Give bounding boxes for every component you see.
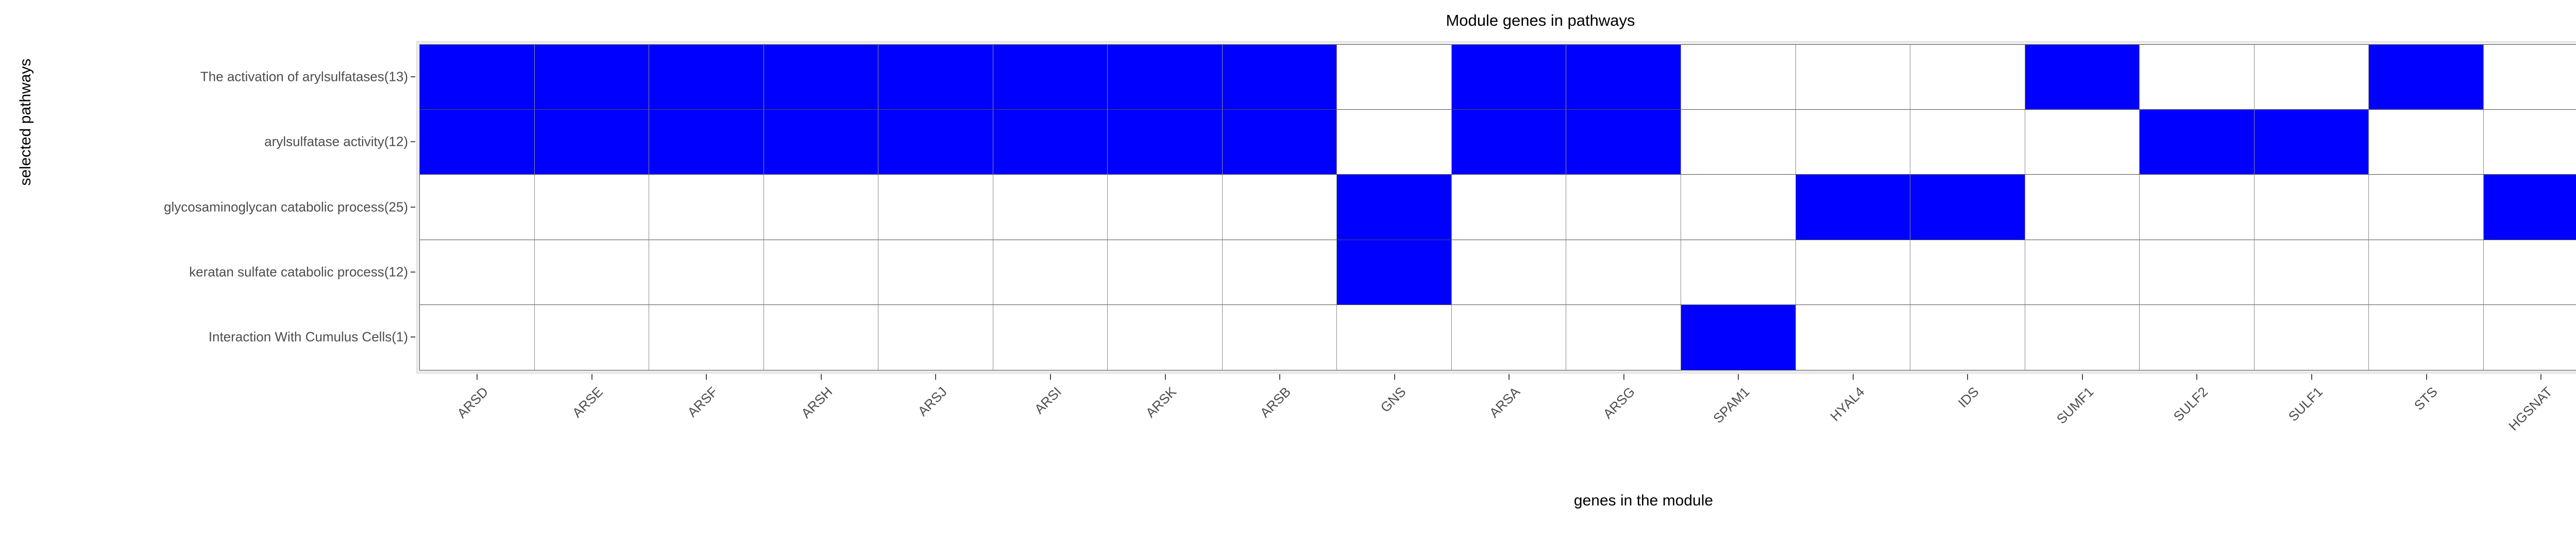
- x-tick-label: HYAL4: [1827, 384, 1868, 425]
- x-tick-label: SUMF1: [2054, 384, 2097, 427]
- y-tick-mark: [411, 207, 415, 208]
- heatmap-cell: [2255, 110, 2369, 175]
- x-tick-label: ARSH: [798, 384, 836, 421]
- x-tick-mark: [1738, 374, 1739, 380]
- x-tick-label: IDS: [1955, 384, 1982, 411]
- heatmap-cell: [1796, 240, 1911, 305]
- heatmap-cell: [649, 45, 764, 110]
- heatmap-cell: [1910, 45, 2025, 110]
- heatmap-cell: [1796, 175, 1911, 240]
- x-tick-mark: [935, 374, 936, 380]
- heatmap-cell: [1108, 305, 1223, 370]
- x-tick-mark: [2082, 374, 2083, 380]
- x-axis-title: genes in the module: [361, 492, 2576, 510]
- y-axis-title: selected pathways: [17, 19, 35, 225]
- heatmap-cell: [420, 305, 535, 370]
- heatmap-cell: [2484, 110, 2576, 175]
- heatmap-cell: [764, 45, 879, 110]
- x-tick-label: SULF1: [2285, 384, 2326, 425]
- heatmap-cell: [1681, 305, 1796, 370]
- x-tick-label: GNS: [1377, 384, 1409, 416]
- heatmap-cell: [1223, 305, 1337, 370]
- x-tick-mark: [1853, 374, 1854, 380]
- x-tick-mark: [2196, 374, 2197, 380]
- heatmap-cell: [1108, 45, 1223, 110]
- x-tick-mark: [2540, 374, 2541, 380]
- heatmap-cell: [2025, 305, 2140, 370]
- heatmap-cell: [2255, 45, 2369, 110]
- x-tick-mark: [1967, 374, 1968, 380]
- heatmap-cell: [878, 305, 993, 370]
- heatmap-cell: [1566, 45, 1681, 110]
- heatmap-cell: [420, 110, 535, 175]
- heatmap-cell: [2255, 175, 2369, 240]
- heatmap-cell: [1452, 45, 1567, 110]
- x-tick-label: ARSG: [1600, 384, 1638, 422]
- heatmap-cell: [993, 175, 1108, 240]
- heatmap-cell: [2369, 175, 2484, 240]
- heatmap-cell: [993, 45, 1108, 110]
- heatmap-cell: [1910, 175, 2025, 240]
- y-tick-label: The activation of arylsulfatases(13): [200, 69, 408, 85]
- x-tick-mark: [1050, 374, 1051, 380]
- heatmap-cell: [2025, 175, 2140, 240]
- y-tick-mark: [411, 141, 415, 142]
- x-tick-label: SULF2: [2171, 384, 2211, 425]
- x-tick-label: STS: [2411, 384, 2441, 414]
- heatmap-cell: [1681, 175, 1796, 240]
- heatmap-cell: [2025, 110, 2140, 175]
- y-tick-mark: [411, 76, 415, 77]
- heatmap-cell: [2140, 240, 2255, 305]
- heatmap-cell: [2140, 110, 2255, 175]
- heatmap-grid: [419, 44, 2576, 370]
- y-tick-label: Interaction With Cumulus Cells(1): [209, 329, 408, 345]
- x-tick-mark: [1509, 374, 1510, 380]
- heatmap-cell: [1108, 110, 1223, 175]
- heatmap-cell: [1910, 110, 2025, 175]
- x-tick-label: ARSJ: [915, 384, 951, 419]
- heatmap-cell: [2140, 305, 2255, 370]
- x-tick-mark: [591, 374, 592, 380]
- x-tick-mark: [706, 374, 707, 380]
- heatmap-cell: [420, 175, 535, 240]
- heatmap-cell: [649, 175, 764, 240]
- heatmap-cell: [535, 240, 650, 305]
- heatmap-cell: [878, 45, 993, 110]
- heatmap-cell: [2369, 305, 2484, 370]
- heatmap-cell: [2369, 240, 2484, 305]
- heatmap-cell: [1452, 305, 1567, 370]
- heatmap-cell: [993, 305, 1108, 370]
- heatmap-cell: [2025, 45, 2140, 110]
- heatmap-cell: [764, 110, 879, 175]
- heatmap-cell: [878, 110, 993, 175]
- y-tick-mark: [411, 336, 415, 337]
- heatmap-cell: [1223, 175, 1337, 240]
- heatmap-cell: [1796, 110, 1911, 175]
- heatmap-cell: [1452, 240, 1567, 305]
- heatmap-cell: [1108, 240, 1223, 305]
- heatmap-cell: [1337, 175, 1452, 240]
- x-tick-label: ARSB: [1257, 384, 1294, 421]
- heatmap-cell: [1108, 175, 1223, 240]
- heatmap-cell: [1337, 240, 1452, 305]
- heatmap-cell: [878, 175, 993, 240]
- x-tick-label: SPAM1: [1710, 384, 1753, 427]
- heatmap-cell: [764, 175, 879, 240]
- y-tick-label: glycosaminoglycan catabolic process(25): [164, 199, 408, 215]
- heatmap-cell: [1910, 305, 2025, 370]
- heatmap-cell: [2484, 45, 2576, 110]
- page-title: Module genes in pathways: [0, 11, 2576, 30]
- heatmap-cell: [1452, 175, 1567, 240]
- heatmap-cell: [2484, 175, 2576, 240]
- heatmap-cell: [1681, 45, 1796, 110]
- heatmap-cell: [2369, 110, 2484, 175]
- x-tick-label: HGSNAT: [2505, 384, 2555, 434]
- x-tick-mark: [477, 374, 478, 380]
- heatmap-cell: [1796, 45, 1911, 110]
- heatmap-cell: [878, 240, 993, 305]
- heatmap-cell: [2484, 240, 2576, 305]
- heatmap-cell: [649, 110, 764, 175]
- x-tick-mark: [2311, 374, 2312, 380]
- heatmap-cell: [1337, 45, 1452, 110]
- heatmap-cell: [993, 240, 1108, 305]
- x-tick-label: ARSI: [1031, 384, 1065, 417]
- x-tick-label: ARSK: [1142, 384, 1179, 421]
- heatmap-cell: [1566, 240, 1681, 305]
- heatmap-cell: [2484, 305, 2576, 370]
- heatmap-cell: [1223, 110, 1337, 175]
- x-tick-label: ARSF: [685, 384, 721, 420]
- heatmap-cell: [2025, 240, 2140, 305]
- heatmap-cell: [2255, 305, 2369, 370]
- heatmap-cell: [2140, 45, 2255, 110]
- heatmap-cell: [1223, 45, 1337, 110]
- heatmap-cell: [535, 110, 650, 175]
- heatmap-cell: [2369, 45, 2484, 110]
- heatmap-cell: [535, 45, 650, 110]
- y-tick-mark: [411, 272, 415, 273]
- x-tick-mark: [821, 374, 822, 380]
- x-tick-label: ARSA: [1486, 384, 1523, 421]
- heatmap-cell: [1681, 110, 1796, 175]
- heatmap-cell: [420, 45, 535, 110]
- x-tick-mark: [1165, 374, 1166, 380]
- heatmap-cell: [764, 305, 879, 370]
- heatmap-cell: [535, 305, 650, 370]
- x-tick-mark: [1279, 374, 1280, 380]
- x-tick-label: ARSE: [569, 384, 606, 421]
- heatmap-cell: [1223, 240, 1337, 305]
- heatmap-panel: [416, 41, 2576, 374]
- heatmap-cell: [1566, 305, 1681, 370]
- heatmap-cell: [1796, 305, 1911, 370]
- x-tick-mark: [2426, 374, 2427, 380]
- x-tick-mark: [1623, 374, 1624, 380]
- heatmap-cell: [1566, 110, 1681, 175]
- heatmap-cell: [2140, 175, 2255, 240]
- heatmap-cell: [1452, 110, 1567, 175]
- heatmap-figure: Module genes in pathways selected pathwa…: [0, 0, 2576, 541]
- heatmap-cell: [649, 305, 764, 370]
- heatmap-cell: [1681, 240, 1796, 305]
- heatmap-cell: [764, 240, 879, 305]
- heatmap-cell: [535, 175, 650, 240]
- heatmap-cell: [1910, 240, 2025, 305]
- y-tick-label: arylsulfatase activity(12): [264, 134, 408, 150]
- heatmap-cell: [649, 240, 764, 305]
- heatmap-cell: [420, 240, 535, 305]
- heatmap-cell: [1337, 305, 1452, 370]
- heatmap-cell: [1337, 110, 1452, 175]
- x-tick-mark: [1394, 374, 1395, 380]
- y-tick-label: keratan sulfate catabolic process(12): [189, 264, 408, 280]
- heatmap-cell: [2255, 240, 2369, 305]
- heatmap-cell: [1566, 175, 1681, 240]
- x-tick-label: ARSD: [454, 384, 492, 421]
- heatmap-cell: [993, 110, 1108, 175]
